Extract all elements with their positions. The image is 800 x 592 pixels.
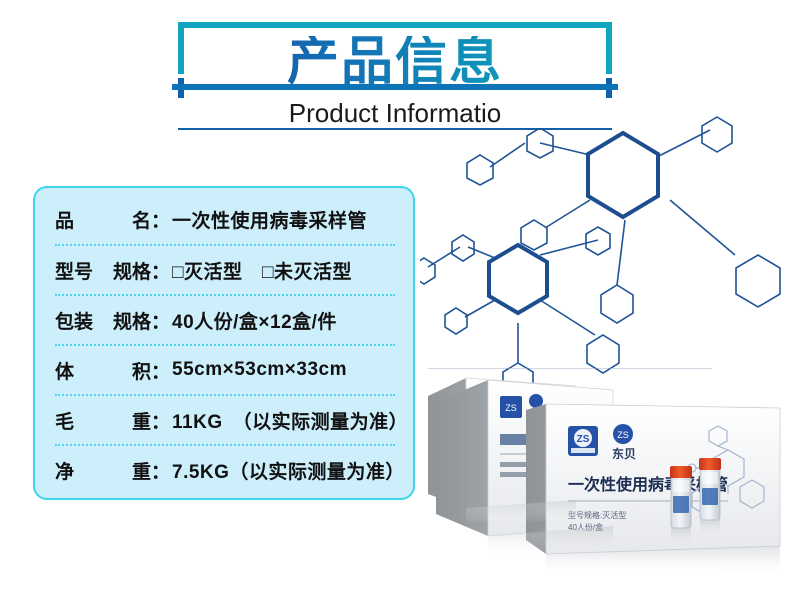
svg-text:型号规格:灭活型: 型号规格:灭活型	[568, 510, 626, 520]
info-label-packaging: 包装规格	[55, 307, 151, 334]
info-value-product-name: 一次性使用病毒采样管	[172, 206, 367, 233]
page-title-block: 产品信息 Product Informatio	[178, 22, 612, 130]
product-info-card: 品名 ： 一次性使用病毒采样管 型号规格 ： □灭活型 □未灭活型 包装规格 ：…	[33, 186, 415, 500]
colon-0: ：	[151, 206, 170, 233]
info-row-model-spec: 型号规格 ： □灭活型 □未灭活型	[55, 244, 395, 294]
info-label-volume: 体积	[55, 357, 151, 384]
info-row-product-name: 品名 ： 一次性使用病毒采样管	[55, 194, 395, 244]
info-label-product-name: 品名	[55, 206, 151, 233]
info-row-volume: 体积 ： 55cm×53cm×33cm	[55, 344, 395, 394]
sample-vial-right	[699, 458, 721, 520]
info-label-model-spec: 型号规格	[55, 257, 151, 284]
svg-text:ZS: ZS	[577, 434, 590, 445]
colon-1: ：	[151, 257, 170, 284]
info-value-packaging: 40人份/盒×12盒/件	[172, 307, 337, 334]
info-row-gross-weight: 毛重 ： 11KG （以实际测量为准）	[55, 394, 395, 444]
colon-4: ：	[151, 407, 170, 434]
info-row-net-weight: 净重 ： 7.5KG（以实际测量为准）	[55, 444, 395, 494]
molecule-decoration	[420, 95, 800, 395]
svg-text:ZS: ZS	[505, 403, 517, 413]
colon-5: ：	[151, 457, 170, 484]
info-value-net-weight: 7.5KG（以实际测量为准）	[172, 457, 405, 484]
info-value-model-spec[interactable]: □灭活型 □未灭活型	[172, 257, 352, 284]
colon-3: ：	[151, 357, 170, 384]
colon-2: ：	[151, 307, 170, 334]
info-value-volume: 55cm×53cm×33cm	[172, 359, 347, 381]
page-subtitle: Product Informatio	[178, 98, 612, 128]
product-photo: ZS 东贝 ZS ZS 东贝 一次性使用病毒采样管	[428, 368, 800, 587]
sample-vial-left	[670, 466, 692, 528]
svg-text:东贝: 东贝	[612, 446, 636, 461]
info-label-net-weight: 净重	[55, 457, 151, 484]
svg-text:ZS: ZS	[617, 430, 629, 440]
page-title: 产品信息	[178, 36, 612, 88]
info-value-gross-weight: 11KG （以实际测量为准）	[172, 407, 408, 434]
info-row-packaging: 包装规格 ： 40人份/盒×12盒/件	[55, 294, 395, 344]
info-label-gross-weight: 毛重	[55, 407, 151, 434]
